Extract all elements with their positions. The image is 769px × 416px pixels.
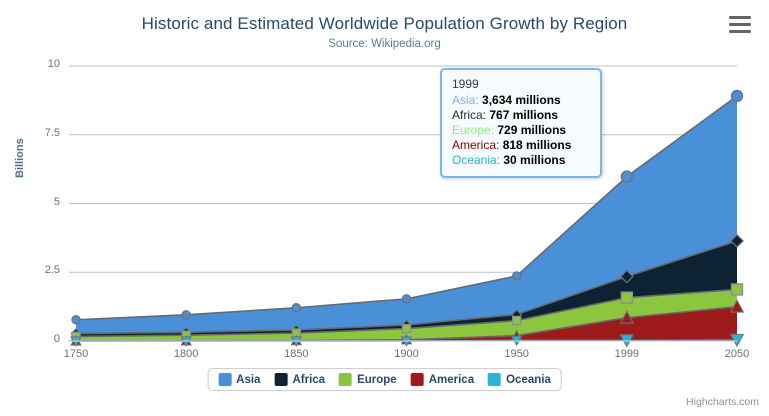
x-axis-tick-label: 1999 xyxy=(597,348,657,360)
data-point-marker[interactable] xyxy=(621,171,632,182)
plot-area: Billions 02.557.510 17501800185019001950… xyxy=(0,0,769,416)
legend-label: Europe xyxy=(357,374,397,386)
legend-item-america[interactable]: America xyxy=(411,373,474,386)
legend-swatch-icon xyxy=(411,373,424,386)
tooltip-series-name: America: xyxy=(452,138,503,152)
data-point-marker[interactable] xyxy=(292,304,300,312)
data-point-marker[interactable] xyxy=(72,316,80,324)
tooltip-row: Asia: 3,634 millions xyxy=(452,93,590,108)
y-axis-tick-label: 5 xyxy=(8,196,60,208)
data-point-marker[interactable] xyxy=(182,311,190,319)
legend-label: Oceania xyxy=(506,374,551,386)
y-axis-tick-label: 10 xyxy=(8,58,60,70)
tooltip-series-value: 30 millions xyxy=(503,153,565,167)
tooltip-series-name: Europe: xyxy=(452,123,497,137)
tooltip-header: 1999 xyxy=(452,77,590,91)
y-axis-tick-label: 7.5 xyxy=(8,127,60,139)
tooltip-series-value: 3,634 millions xyxy=(482,93,561,107)
x-axis-tick-label: 2050 xyxy=(707,348,767,360)
y-axis-title: Billions xyxy=(14,138,26,178)
tooltip-series-value: 729 millions xyxy=(497,123,566,137)
tooltip-row: Africa: 767 millions xyxy=(452,108,590,123)
legend-item-oceania[interactable]: Oceania xyxy=(488,373,551,386)
credits-label[interactable]: Highcharts.com xyxy=(686,396,759,408)
tooltip-series-name: Oceania: xyxy=(452,153,503,167)
tooltip: 1999 Asia: 3,634 millionsAfrica: 767 mil… xyxy=(440,68,602,178)
legend-item-asia[interactable]: Asia xyxy=(218,373,260,386)
chart-legend: AsiaAfricaEuropeAmericaOceania xyxy=(207,368,562,391)
x-axis-tick-label: 1800 xyxy=(156,348,216,360)
y-axis-tick-label: 2.5 xyxy=(8,264,60,276)
tooltip-row: Oceania: 30 millions xyxy=(452,153,590,168)
data-point-marker[interactable] xyxy=(732,91,743,102)
tooltip-series-name: Africa: xyxy=(452,108,489,122)
tooltip-series-value: 818 millions xyxy=(503,138,572,152)
tooltip-row: America: 818 millions xyxy=(452,138,590,153)
legend-item-europe[interactable]: Europe xyxy=(339,373,397,386)
data-point-marker[interactable] xyxy=(403,295,411,303)
data-point-marker[interactable] xyxy=(732,284,743,295)
series-areas xyxy=(76,96,737,341)
x-axis-tick-label: 1750 xyxy=(46,348,106,360)
tooltip-series-value: 767 millions xyxy=(489,108,558,122)
legend-label: America xyxy=(429,374,474,386)
legend-swatch-icon xyxy=(488,373,501,386)
legend-label: Africa xyxy=(292,374,325,386)
highcharts-container: Historic and Estimated Worldwide Populat… xyxy=(0,0,769,416)
data-point-marker[interactable] xyxy=(513,317,521,325)
data-point-marker[interactable] xyxy=(621,292,632,303)
legend-label: Asia xyxy=(236,374,260,386)
data-point-marker[interactable] xyxy=(403,325,411,333)
x-axis-tick-label: 1900 xyxy=(377,348,437,360)
tooltip-rows: Asia: 3,634 millionsAfrica: 767 millions… xyxy=(452,93,590,168)
legend-swatch-icon xyxy=(274,373,287,386)
y-axis-tick-label: 0 xyxy=(8,333,60,345)
legend-swatch-icon xyxy=(218,373,231,386)
legend-item-africa[interactable]: Africa xyxy=(274,373,325,386)
data-point-marker[interactable] xyxy=(513,272,521,280)
x-axis-tick-label: 1850 xyxy=(266,348,326,360)
legend-swatch-icon xyxy=(339,373,352,386)
tooltip-series-name: Asia: xyxy=(452,93,482,107)
x-axis-tick-label: 1950 xyxy=(487,348,547,360)
tooltip-row: Europe: 729 millions xyxy=(452,123,590,138)
